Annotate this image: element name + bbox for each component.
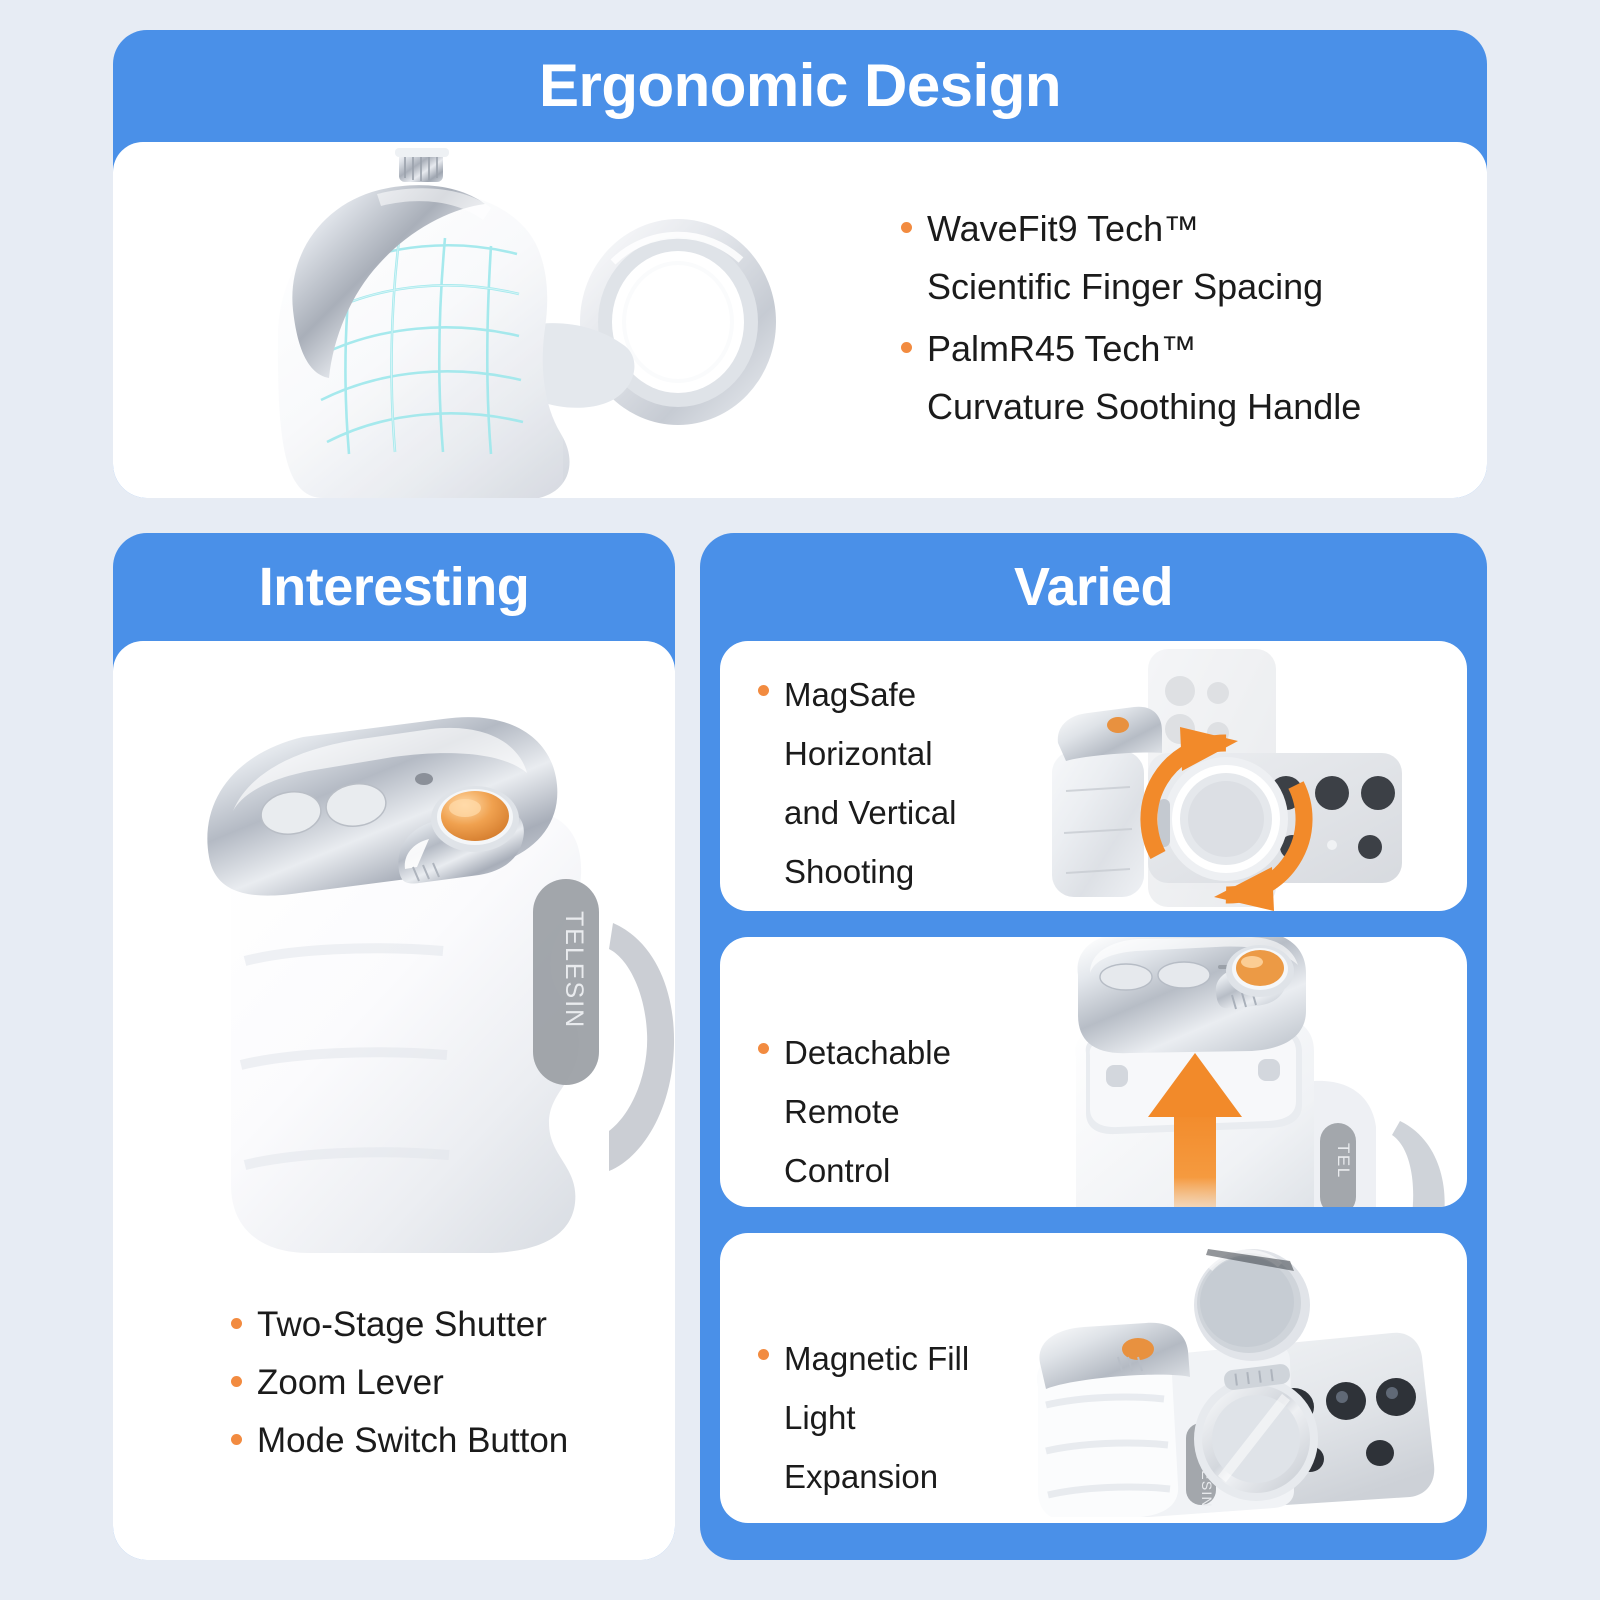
feature-lead: WaveFit9 Tech™ bbox=[927, 208, 1199, 249]
feature-lead: Magnetic Fill bbox=[784, 1340, 969, 1377]
feature-line: Light Expansion bbox=[784, 1388, 1010, 1506]
ergonomic-grip-illustration bbox=[173, 142, 813, 498]
brand-badge: TELESIN bbox=[533, 879, 599, 1085]
card-body-ergonomic-design: WaveFit9 Tech™ Scientific Finger Spacing… bbox=[113, 142, 1487, 498]
magnetic-fill-light bbox=[1194, 1249, 1310, 1361]
shutter-button bbox=[1122, 1338, 1154, 1360]
magsafe-rotation-illustration bbox=[1030, 641, 1450, 911]
interesting-feature-list: Two-Stage Shutter Zoom Lever Mode Switch… bbox=[223, 1296, 568, 1470]
mode-switch-button bbox=[1100, 964, 1152, 990]
list-item: Two-Stage Shutter bbox=[223, 1296, 568, 1354]
feature-line: Horizontal bbox=[784, 724, 980, 783]
list-item: Mode Switch Button bbox=[223, 1412, 568, 1470]
feature-lead: Two-Stage Shutter bbox=[257, 1305, 547, 1344]
card-body-varied: MagSafe Horizontal and Vertical Shooting bbox=[700, 641, 1487, 1560]
infographic-page: Ergonomic Design bbox=[0, 0, 1600, 1600]
filllight-feature-text: Magnetic Fill Light Expansion bbox=[750, 1329, 1010, 1506]
detached-remote-head bbox=[1078, 937, 1306, 1053]
feature-lead: Mode Switch Button bbox=[257, 1421, 568, 1460]
list-item: WaveFit9 Tech™ Scientific Finger Spacing bbox=[893, 200, 1413, 316]
shutter-button bbox=[1236, 950, 1284, 986]
svg-text:TELESIN: TELESIN bbox=[560, 911, 588, 1029]
feature-line: and Vertical bbox=[784, 783, 980, 842]
ergonomic-feature-list: WaveFit9 Tech™ Scientific Finger Spacing… bbox=[893, 200, 1413, 440]
subcard-detachable-remote: Detachable Remote Control bbox=[720, 937, 1467, 1207]
feature-lead: Detachable bbox=[784, 1034, 951, 1071]
magsafe-lens-ring bbox=[1194, 1377, 1318, 1501]
list-item: Detachable Remote Control bbox=[750, 1023, 1010, 1200]
detachable-feature-text: Detachable Remote Control bbox=[750, 1023, 1010, 1200]
feature-line: Shooting bbox=[784, 842, 980, 901]
list-item: Zoom Lever bbox=[223, 1354, 568, 1412]
fill-light-illustration: TELESIN bbox=[1010, 1247, 1460, 1522]
subcard-magnetic-fill-light: Magnetic Fill Light Expansion bbox=[720, 1233, 1467, 1523]
card-interesting: Interesting bbox=[113, 533, 675, 1560]
shutter-button bbox=[1107, 717, 1129, 733]
brand-badge-text: TEL bbox=[1334, 1143, 1353, 1179]
card-ergonomic-design: Ergonomic Design bbox=[113, 30, 1487, 498]
two-stage-shutter-button bbox=[441, 791, 509, 841]
feature-sub: Curvature Soothing Handle bbox=[927, 378, 1413, 436]
feature-lead: MagSafe bbox=[784, 676, 916, 713]
secondary-button bbox=[1158, 962, 1210, 988]
detachable-remote-illustration: TEL bbox=[1020, 937, 1460, 1207]
feature-lead: PalmR45 Tech™ bbox=[927, 328, 1196, 369]
interesting-grip-illustration: TELESIN bbox=[113, 661, 675, 1281]
card-varied: Varied MagSafe Horizontal and Vertical S… bbox=[700, 533, 1487, 1560]
feature-lead: Zoom Lever bbox=[257, 1363, 444, 1402]
subcard-magsafe: MagSafe Horizontal and Vertical Shooting bbox=[720, 641, 1467, 911]
list-item: PalmR45 Tech™ Curvature Soothing Handle bbox=[893, 320, 1413, 436]
feature-line: Remote Control bbox=[784, 1082, 1010, 1200]
feature-sub: Scientific Finger Spacing bbox=[927, 258, 1413, 316]
led-indicator bbox=[415, 773, 433, 785]
list-item: Magnetic Fill Light Expansion bbox=[750, 1329, 1010, 1506]
list-item: MagSafe Horizontal and Vertical Shooting bbox=[750, 665, 980, 901]
magsafe-feature-text: MagSafe Horizontal and Vertical Shooting bbox=[750, 665, 980, 901]
card-body-interesting: TELESIN bbox=[113, 641, 675, 1560]
